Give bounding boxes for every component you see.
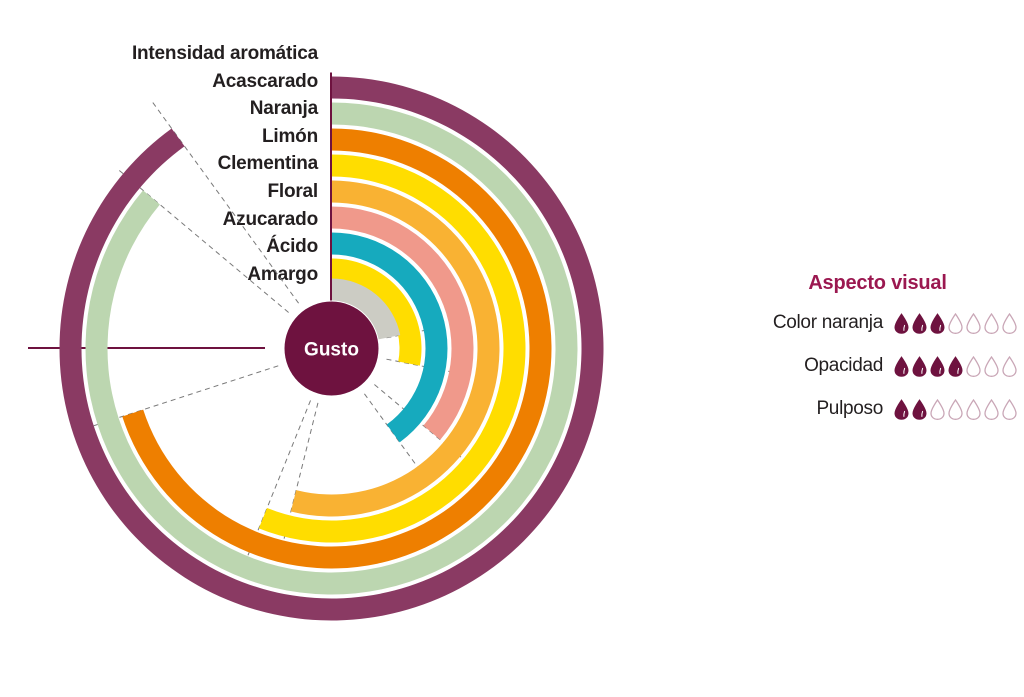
droplet-empty-icon [984,356,999,377]
aspect-rating-drops[interactable] [894,313,1020,334]
droplet-filled-icon [894,356,909,377]
droplet-empty-icon [930,399,945,420]
aspect-row-label: Pulposo [816,398,883,420]
chart-canvas: Intensidad aromática Acascarado Naranja … [0,0,1024,697]
aspect-panel-title: Aspecto visual [735,272,1020,295]
aspect-row: Color naranja [735,311,1020,335]
droplet-empty-icon [984,313,999,334]
droplet-empty-icon [966,399,981,420]
droplet-empty-icon [1002,399,1017,420]
aspect-rating-drops[interactable] [894,356,1020,377]
spoke-line [152,101,299,303]
aspect-row-label: Opacidad [804,355,883,377]
droplet-filled-icon [948,356,963,377]
droplet-filled-icon [930,356,945,377]
spoke-line [117,169,289,313]
aspect-row-list: Color naranjaOpacidadPulposo [735,311,1020,421]
droplet-filled-icon [930,313,945,334]
aspect-rating-drops[interactable] [894,399,1020,420]
aspect-row: Pulposo [735,397,1020,421]
droplet-empty-icon [1002,313,1017,334]
droplet-empty-icon [1002,356,1017,377]
droplet-empty-icon [948,313,963,334]
droplet-empty-icon [948,399,963,420]
center-hub-label: Gusto [304,340,359,361]
visual-aspect-panel: Aspecto visual Color naranjaOpacidadPulp… [735,272,1020,421]
droplet-filled-icon [912,313,927,334]
droplet-empty-icon [966,356,981,377]
droplet-empty-icon [984,399,999,420]
droplet-empty-icon [966,313,981,334]
droplet-filled-icon [912,356,927,377]
aspect-row: Opacidad [735,354,1020,378]
aspect-row-label: Color naranja [773,312,883,334]
droplet-filled-icon [912,399,927,420]
droplet-filled-icon [894,313,909,334]
droplet-filled-icon [894,399,909,420]
